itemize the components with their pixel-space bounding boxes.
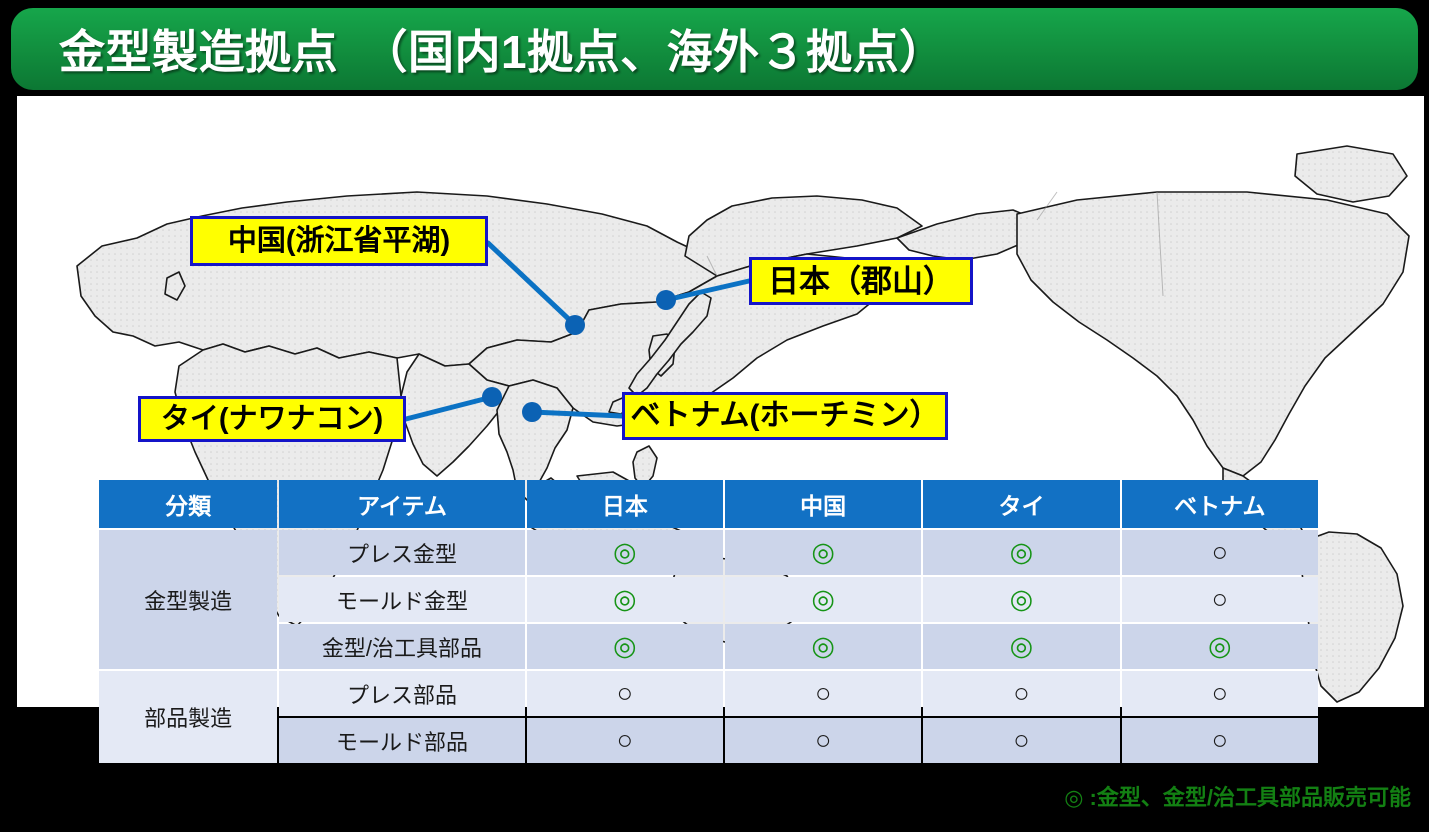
mark-cell-thailand: ◎ xyxy=(923,577,1119,622)
mark-cell-japan: ○ xyxy=(527,671,723,716)
mark-cell-thailand: ◎ xyxy=(923,530,1119,575)
mark-cell-vietnam: ○ xyxy=(1122,671,1318,716)
mark-cell-japan: ○ xyxy=(527,718,723,763)
table-row: 金型/治工具部品 ◎ ◎ ◎ ◎ xyxy=(99,624,1318,669)
mark-cell-japan: ◎ xyxy=(527,577,723,622)
table-row: モールド部品 ○ ○ ○ ○ xyxy=(99,718,1318,763)
mark-cell-china: ○ xyxy=(725,671,921,716)
table-row: 部品製造 プレス部品 ○ ○ ○ ○ xyxy=(99,671,1318,716)
single-circle-icon: ○ xyxy=(815,680,831,707)
single-circle-icon: ○ xyxy=(1212,586,1228,613)
double-circle-icon: ◎ xyxy=(1010,586,1034,613)
category-cell-parts-manufacturing: 部品製造 xyxy=(99,671,277,763)
callout-vietnam-label: ベトナム(ホーチミン） xyxy=(630,401,939,431)
single-circle-icon: ○ xyxy=(1212,539,1228,566)
mark-cell-china: ◎ xyxy=(725,530,921,575)
callout-china-label: 中国(浙江省平湖) xyxy=(228,227,450,256)
mark-cell-japan: ◎ xyxy=(527,624,723,669)
table-header-vietnam: ベトナム xyxy=(1122,480,1318,528)
table-header-china: 中国 xyxy=(725,480,921,528)
title-banner: 金型製造拠点 （国内1拠点、海外３拠点） xyxy=(11,8,1418,90)
item-cell: プレス部品 xyxy=(279,671,524,716)
mark-cell-vietnam: ○ xyxy=(1122,530,1318,575)
double-circle-icon: ◎ xyxy=(1010,633,1034,660)
item-cell: 金型/治工具部品 xyxy=(279,624,524,669)
double-circle-icon: ◎ xyxy=(811,539,835,566)
mark-cell-thailand: ◎ xyxy=(923,624,1119,669)
table-header-row: 分類 アイテム 日本 中国 タイ ベトナム xyxy=(99,480,1318,528)
mark-cell-vietnam: ◎ xyxy=(1122,624,1318,669)
callout-china: 中国(浙江省平湖) xyxy=(190,216,488,266)
double-circle-icon: ◎ xyxy=(811,586,835,613)
double-circle-icon: ◎ xyxy=(811,633,835,660)
mark-cell-china: ◎ xyxy=(725,577,921,622)
double-circle-icon: ◎ xyxy=(613,633,637,660)
mark-cell-china: ○ xyxy=(725,718,921,763)
callout-vietnam: ベトナム(ホーチミン） xyxy=(622,392,948,440)
legend-note: ◎ :金型、金型/治工具部品販売可能 xyxy=(1064,780,1411,812)
mark-cell-china: ◎ xyxy=(725,624,921,669)
callout-thailand-label: タイ(ナワナコン) xyxy=(161,405,383,434)
mark-cell-thailand: ○ xyxy=(923,671,1119,716)
double-circle-icon: ◎ xyxy=(613,586,637,613)
callout-japan-label: 日本（郡山） xyxy=(768,266,954,297)
single-circle-icon: ○ xyxy=(1013,727,1029,754)
single-circle-icon: ○ xyxy=(1013,680,1029,707)
category-cell-mold-manufacturing: 金型製造 xyxy=(99,530,277,669)
mark-cell-vietnam: ○ xyxy=(1122,577,1318,622)
table-row: モールド金型 ◎ ◎ ◎ ○ xyxy=(99,577,1318,622)
single-circle-icon: ○ xyxy=(617,680,633,707)
item-cell: プレス金型 xyxy=(279,530,524,575)
double-circle-icon: ◎ xyxy=(613,539,637,566)
double-circle-icon: ◎ xyxy=(1208,633,1232,660)
item-cell: モールド部品 xyxy=(279,718,524,763)
single-circle-icon: ○ xyxy=(815,727,831,754)
table-header-category: 分類 xyxy=(99,480,277,528)
item-cell: モールド金型 xyxy=(279,577,524,622)
page-title: 金型製造拠点 （国内1拠点、海外３拠点） xyxy=(59,16,946,82)
single-circle-icon: ○ xyxy=(1212,680,1228,707)
callout-thailand: タイ(ナワナコン) xyxy=(138,396,406,442)
mark-cell-japan: ◎ xyxy=(527,530,723,575)
capability-table: 分類 アイテム 日本 中国 タイ ベトナム 金型製造 プレス金型 ◎ ◎ ◎ ○… xyxy=(97,478,1320,765)
single-circle-icon: ○ xyxy=(617,727,633,754)
table-row: 金型製造 プレス金型 ◎ ◎ ◎ ○ xyxy=(99,530,1318,575)
table-header-thailand: タイ xyxy=(923,480,1119,528)
single-circle-icon: ○ xyxy=(1212,727,1228,754)
mark-cell-vietnam: ○ xyxy=(1122,718,1318,763)
double-circle-icon: ◎ xyxy=(1010,539,1034,566)
callout-japan: 日本（郡山） xyxy=(749,257,973,305)
mark-cell-thailand: ○ xyxy=(923,718,1119,763)
table-header-item: アイテム xyxy=(279,480,524,528)
table-header-japan: 日本 xyxy=(527,480,723,528)
